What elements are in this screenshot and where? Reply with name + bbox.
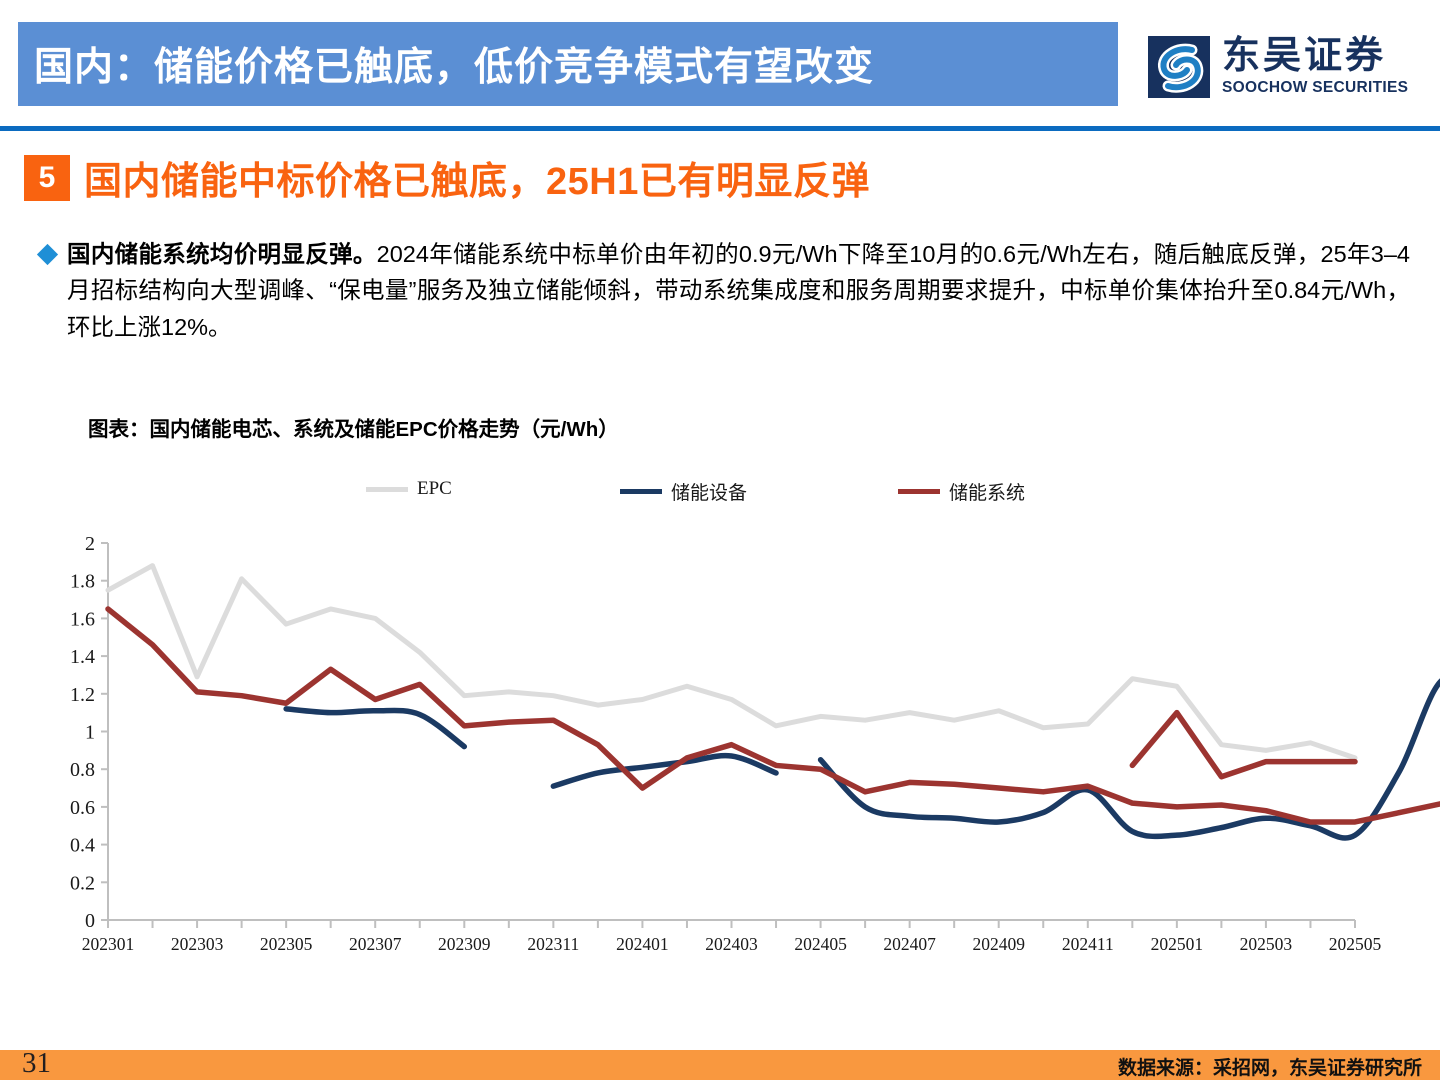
svg-text:202303: 202303 bbox=[171, 934, 224, 954]
svg-text:0: 0 bbox=[85, 910, 95, 932]
legend-label-equipment: 储能设备 bbox=[671, 478, 747, 505]
svg-text:202407: 202407 bbox=[883, 934, 936, 954]
svg-text:1.2: 1.2 bbox=[70, 684, 95, 706]
slide-page: 国内：储能价格已触底，低价竞争模式有望改变 东吴证券 SOOCHOW SECUR… bbox=[0, 0, 1440, 1080]
svg-text:202409: 202409 bbox=[972, 934, 1025, 954]
svg-text:202307: 202307 bbox=[349, 934, 402, 954]
svg-text:202501: 202501 bbox=[1151, 934, 1204, 954]
page-number: 31 bbox=[22, 1047, 51, 1080]
legend-item-epc: EPC bbox=[366, 478, 452, 500]
svg-text:202403: 202403 bbox=[705, 934, 758, 954]
svg-text:0.2: 0.2 bbox=[70, 872, 95, 894]
legend-swatch-equipment bbox=[620, 489, 662, 494]
svg-text:202505: 202505 bbox=[1329, 934, 1382, 954]
svg-text:0.6: 0.6 bbox=[70, 797, 95, 819]
legend-item-equipment: 储能设备 bbox=[620, 478, 747, 505]
bullet-paragraph: 国内储能系统均价明显反弹。2024年储能系统中标单价由年初的0.9元/Wh下降至… bbox=[67, 236, 1410, 345]
svg-text:1.4: 1.4 bbox=[70, 646, 95, 668]
page-title: 国内：储能价格已触底，低价竞争模式有望改变 bbox=[18, 36, 874, 92]
brand-logo: 东吴证券 SOOCHOW SECURITIES bbox=[1148, 32, 1418, 102]
svg-text:202411: 202411 bbox=[1062, 934, 1114, 954]
svg-text:202305: 202305 bbox=[260, 934, 313, 954]
svg-text:202309: 202309 bbox=[438, 934, 491, 954]
chart-legend: EPC 储能设备 储能系统 bbox=[108, 478, 1358, 508]
diamond-bullet-icon bbox=[37, 244, 58, 265]
svg-text:0.8: 0.8 bbox=[70, 759, 95, 781]
chart-title: 图表：国内储能电芯、系统及储能EPC价格走势（元/Wh） bbox=[88, 412, 619, 442]
svg-text:202311: 202311 bbox=[527, 934, 579, 954]
header-banner: 国内：储能价格已触底，低价竞争模式有望改变 bbox=[18, 22, 1118, 106]
svg-text:1.6: 1.6 bbox=[70, 608, 95, 630]
header-divider bbox=[0, 126, 1440, 131]
bullet-item: 国内储能系统均价明显反弹。2024年储能系统中标单价由年初的0.9元/Wh下降至… bbox=[40, 236, 1410, 345]
section-number-badge: 5 bbox=[24, 155, 70, 201]
svg-text:202301: 202301 bbox=[82, 934, 135, 954]
legend-label-system: 储能系统 bbox=[949, 478, 1025, 505]
legend-swatch-system bbox=[898, 489, 940, 494]
section-title: 国内储能中标价格已触底，25H1已有明显反弹 bbox=[84, 150, 870, 205]
svg-text:1.8: 1.8 bbox=[70, 571, 95, 593]
section-heading: 5 国内储能中标价格已触底，25H1已有明显反弹 bbox=[24, 150, 870, 205]
svg-text:0.4: 0.4 bbox=[70, 835, 95, 857]
bullet-lead-text: 国内储能系统均价明显反弹。 bbox=[67, 241, 377, 267]
svg-text:1: 1 bbox=[85, 722, 95, 744]
svg-text:202401: 202401 bbox=[616, 934, 669, 954]
svg-text:202405: 202405 bbox=[794, 934, 847, 954]
legend-label-epc: EPC bbox=[417, 478, 452, 500]
logo-name-cn: 东吴证券 bbox=[1222, 37, 1408, 75]
logo-mark-icon bbox=[1148, 36, 1210, 98]
legend-item-system: 储能系统 bbox=[898, 478, 1025, 505]
legend-swatch-epc bbox=[366, 487, 408, 492]
logo-name-en: SOOCHOW SECURITIES bbox=[1222, 79, 1408, 97]
source-note: 数据来源：采招网，东吴证券研究所 bbox=[1118, 1053, 1422, 1080]
svg-text:2: 2 bbox=[85, 533, 95, 555]
svg-text:202503: 202503 bbox=[1240, 934, 1293, 954]
